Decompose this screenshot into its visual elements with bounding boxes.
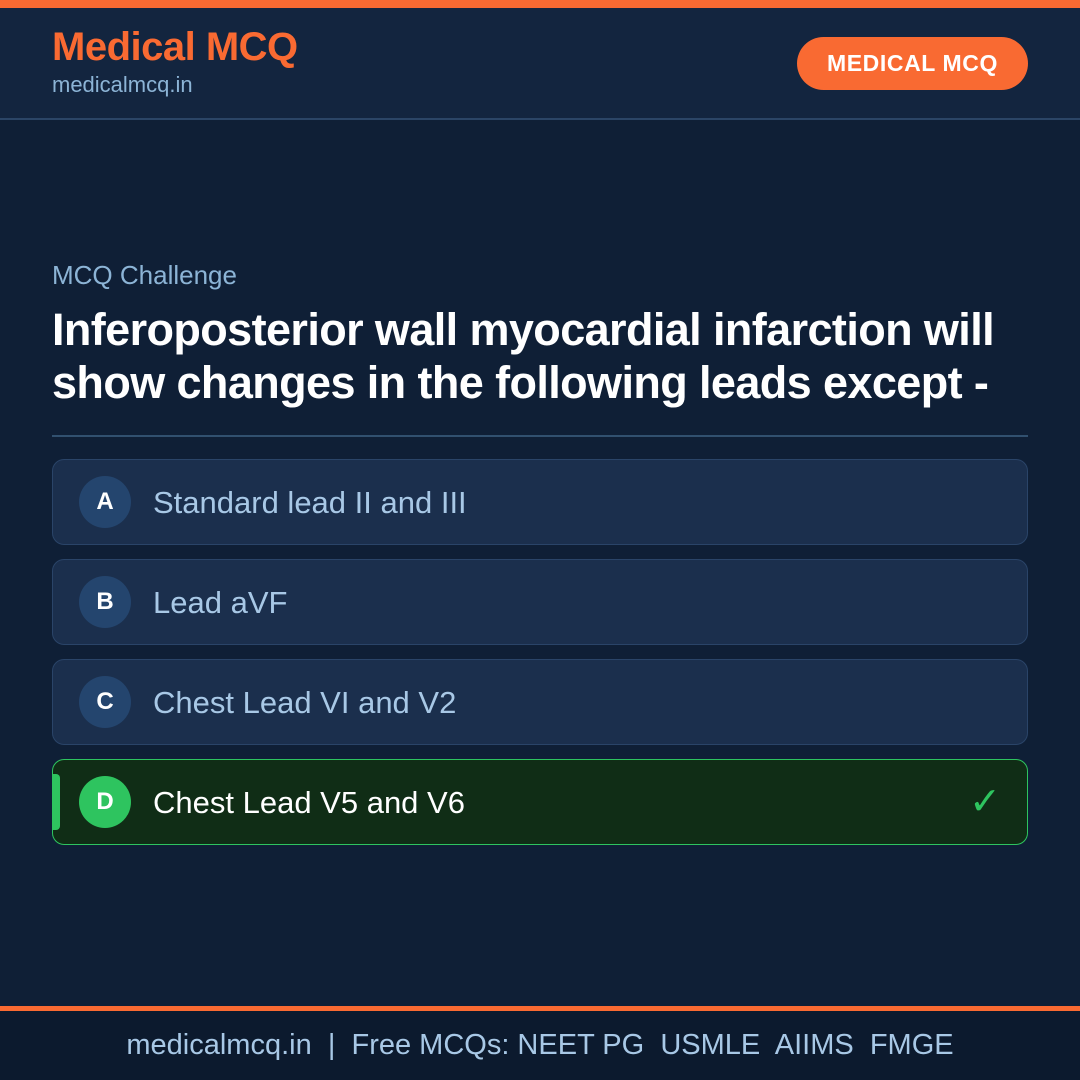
option-letter-badge: B — [79, 576, 131, 628]
option-d[interactable]: DChest Lead V5 and V6✓ — [52, 759, 1028, 845]
site-header: Medical MCQ medicalmcq.in MEDICAL MCQ — [0, 8, 1080, 120]
site-footer: medicalmcq.in | Free MCQs: NEET PG USMLE… — [0, 1006, 1080, 1080]
question-text: Inferoposterior wall myocardial infarcti… — [52, 303, 1012, 409]
correct-accent-bar — [53, 774, 60, 830]
option-label: Chest Lead VI and V2 — [153, 684, 969, 721]
header-badge[interactable]: MEDICAL MCQ — [797, 37, 1028, 90]
main-content: MCQ Challenge Inferoposterior wall myoca… — [0, 120, 1080, 1006]
option-letter-badge: C — [79, 676, 131, 728]
option-b[interactable]: BLead aVF✓ — [52, 559, 1028, 645]
option-letter-badge: A — [79, 476, 131, 528]
option-label: Lead aVF — [153, 584, 969, 621]
brand-title: Medical MCQ — [52, 26, 298, 68]
option-label: Standard lead II and III — [153, 484, 969, 521]
option-c[interactable]: CChest Lead VI and V2✓ — [52, 659, 1028, 745]
options-list: AStandard lead II and III✓BLead aVF✓CChe… — [52, 459, 1028, 845]
footer-text: medicalmcq.in | Free MCQs: NEET PG USMLE… — [126, 1031, 953, 1060]
option-label: Chest Lead V5 and V6 — [153, 784, 969, 821]
brand-subtitle: medicalmcq.in — [52, 71, 298, 100]
question-divider — [52, 435, 1028, 437]
check-icon: ✓ — [969, 783, 1001, 821]
kicker-label: MCQ Challenge — [52, 260, 1028, 291]
option-letter-badge: D — [79, 776, 131, 828]
brand-block: Medical MCQ medicalmcq.in — [52, 26, 298, 100]
top-accent-bar — [0, 0, 1080, 8]
option-a[interactable]: AStandard lead II and III✓ — [52, 459, 1028, 545]
